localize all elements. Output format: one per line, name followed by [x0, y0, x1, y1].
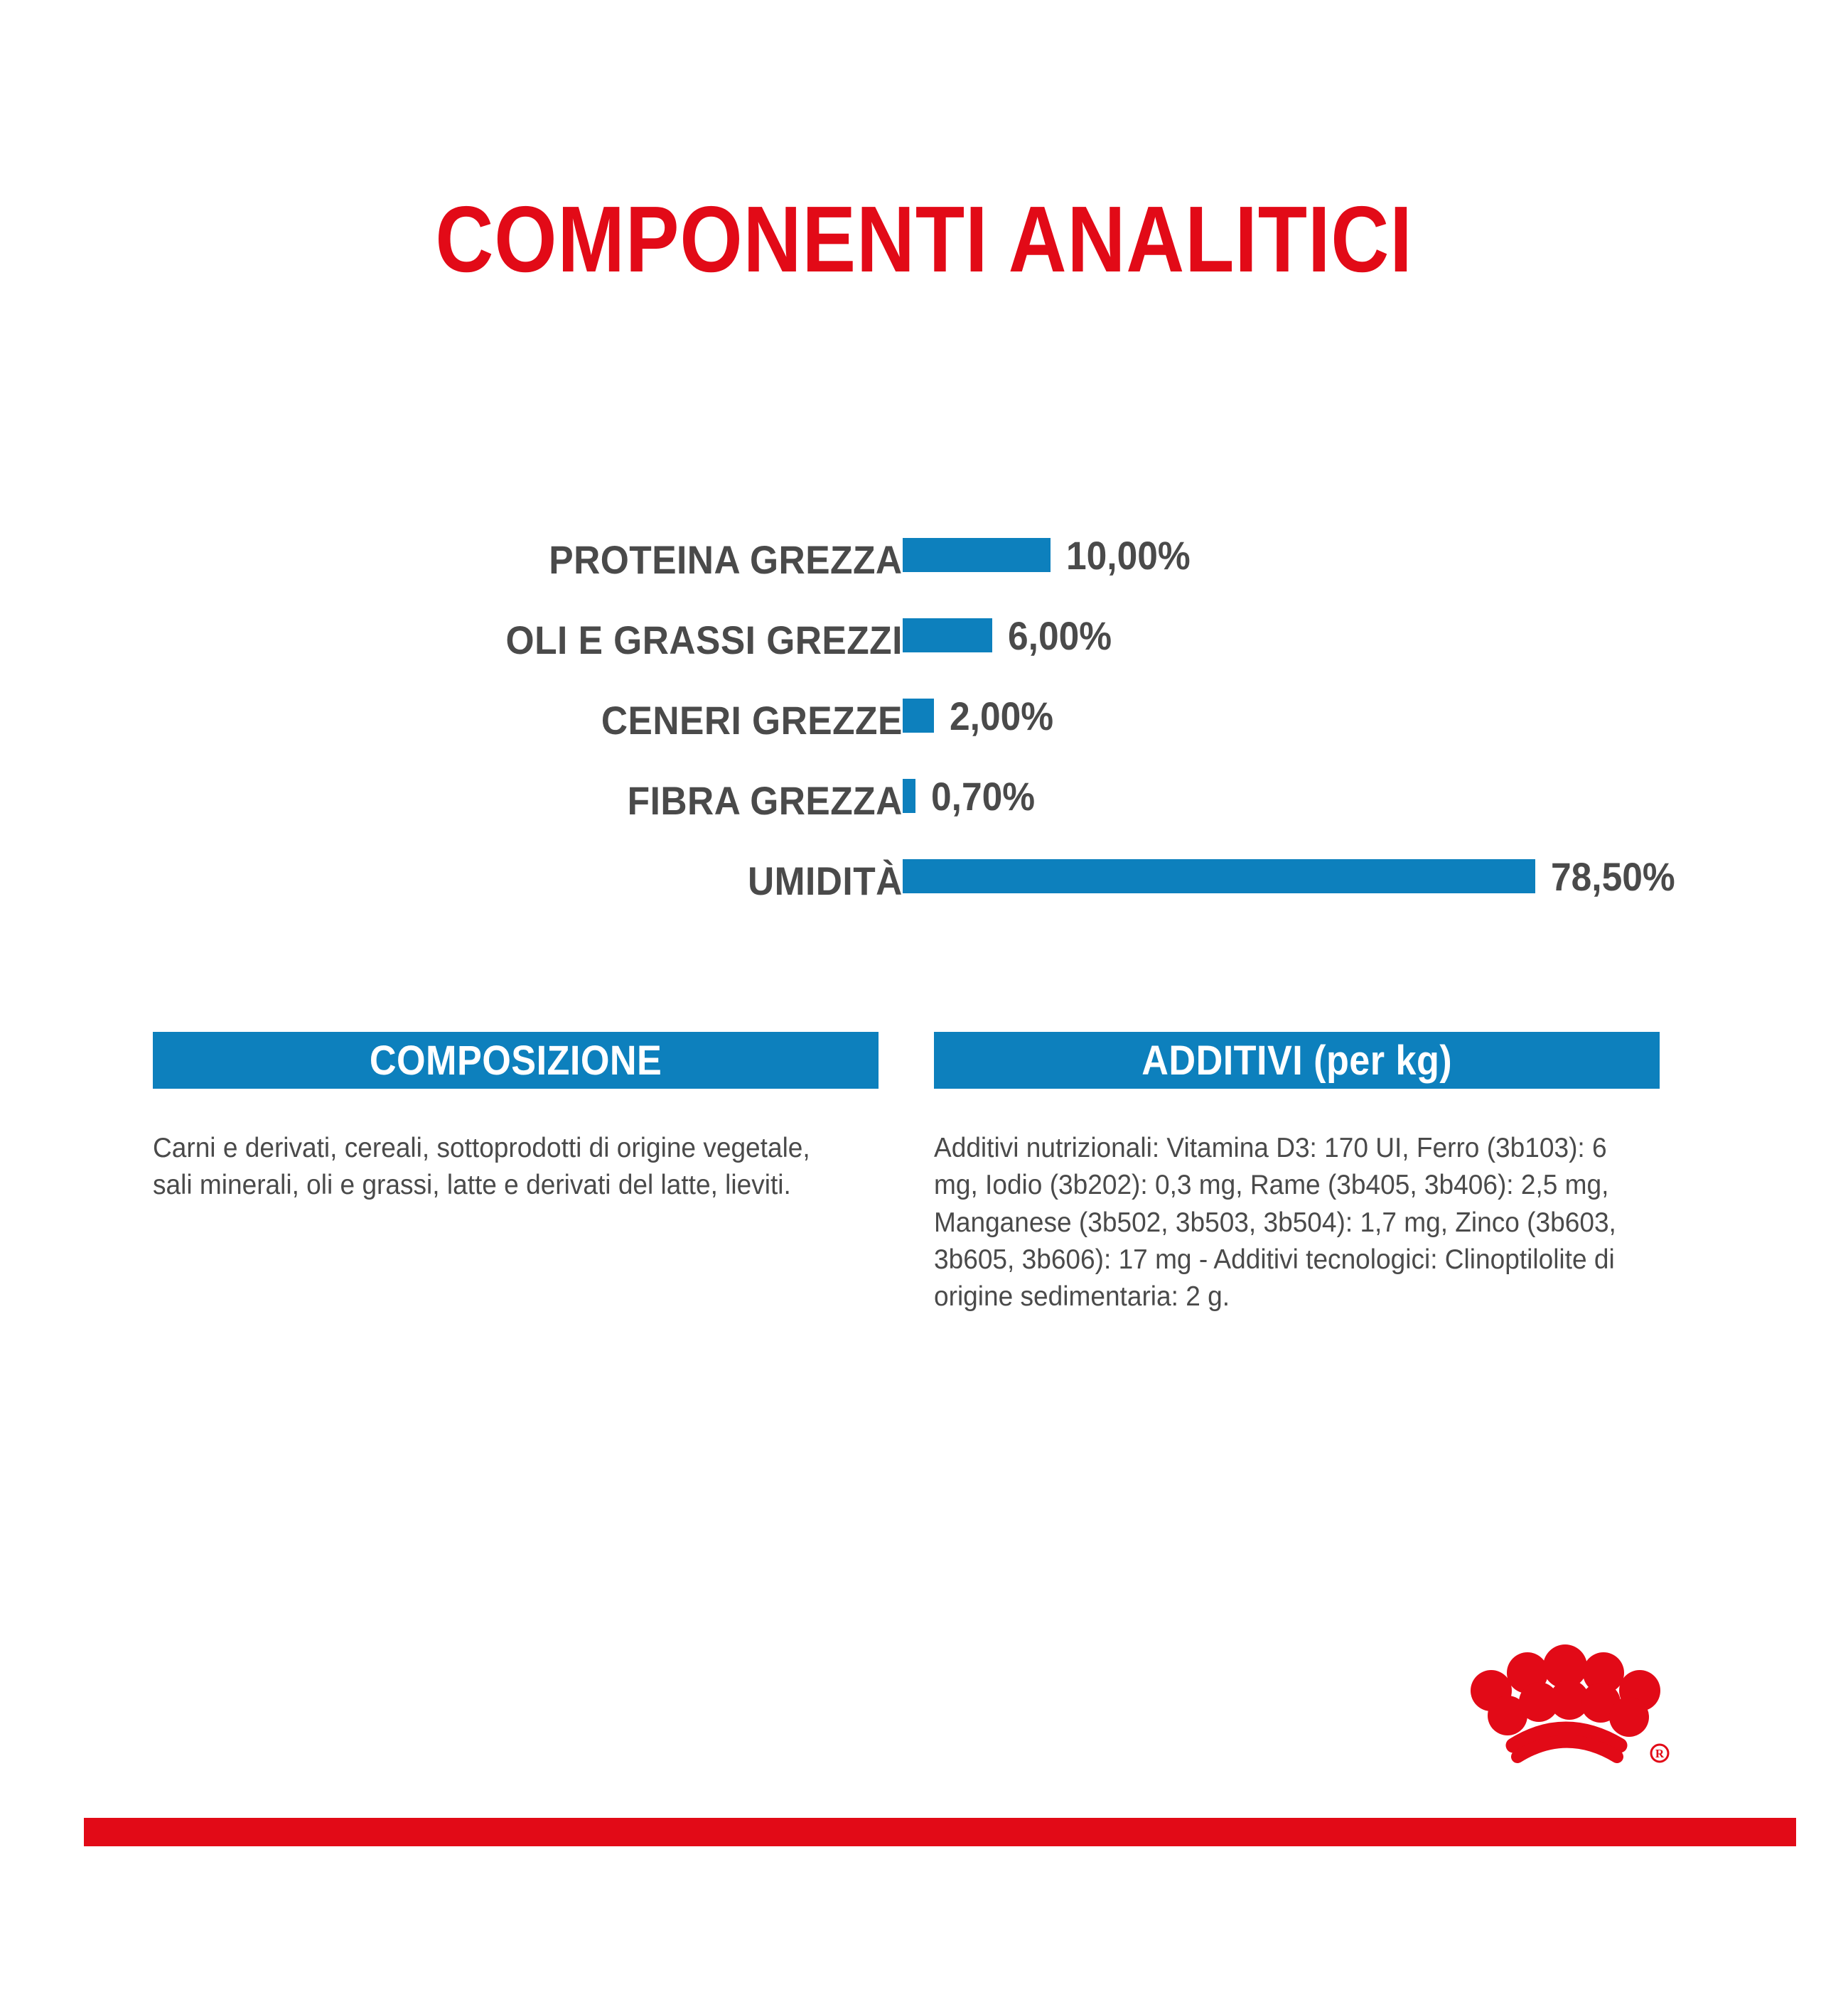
bar-track: 2,00% — [903, 699, 1063, 733]
panel-header-composizione: COMPOSIZIONE — [153, 1032, 879, 1089]
bar-label: CENERI GREZZE — [601, 697, 903, 743]
bar-row-oli-e-grassi-grezzi: OLI E GRASSI GREZZI 6,00% — [0, 603, 1848, 683]
bar-fill — [903, 859, 1535, 893]
crown-dot-lower-5 — [1609, 1697, 1649, 1737]
bar-row-proteina-grezza: PROTEINA GREZZA 10,00% — [0, 522, 1848, 603]
bar-value: 6,00% — [1008, 613, 1112, 659]
svg-text:R: R — [1655, 1747, 1665, 1760]
info-panels: COMPOSIZIONE Carni e derivati, cereali, … — [153, 1032, 1717, 1315]
bar-track: 6,00% — [903, 618, 1121, 652]
bar-track: 78,50% — [903, 859, 1686, 893]
panel-header-label: ADDITIVI (per kg) — [1141, 1037, 1452, 1084]
panel-body-composizione: Carni e derivati, cereali, sottoprodotti… — [153, 1130, 842, 1205]
panel-body-additivi: Additivi nutrizionali: Vitamina D3: 170 … — [934, 1130, 1623, 1315]
bar-fill — [903, 779, 915, 813]
bar-row-umidita: UMIDITÀ 78,50% — [0, 844, 1848, 924]
bar-value: 0,70% — [931, 773, 1035, 819]
bar-fill — [903, 699, 934, 733]
panel-additivi: ADDITIVI (per kg) Additivi nutrizionali:… — [934, 1032, 1660, 1315]
bar-value: 10,00% — [1066, 532, 1191, 578]
registered-trademark-icon: R — [1651, 1745, 1668, 1762]
bar-label: UMIDITÀ — [748, 858, 903, 904]
bar-fill — [903, 618, 992, 652]
royal-canin-crown-logo: R — [1443, 1635, 1685, 1791]
bar-fill — [903, 538, 1051, 572]
nutrition-label-page: COMPONENTI ANALITICI PROTEINA GREZZA 10,… — [0, 0, 1848, 2014]
bar-row-ceneri-grezze: CENERI GREZZE 2,00% — [0, 683, 1848, 763]
bar-track: 10,00% — [903, 538, 1201, 572]
analytical-constituents-chart: PROTEINA GREZZA 10,00% OLI E GRASSI GREZ… — [0, 522, 1848, 924]
bar-value: 2,00% — [950, 693, 1053, 739]
bar-label: FIBRA GREZZA — [628, 777, 903, 824]
panel-composizione: COMPOSIZIONE Carni e derivati, cereali, … — [153, 1032, 879, 1315]
panel-header-additivi: ADDITIVI (per kg) — [934, 1032, 1660, 1089]
page-title: COMPONENTI ANALITICI — [129, 190, 1719, 289]
bar-label: OLI E GRASSI GREZZI — [506, 617, 903, 663]
bar-track: 0,70% — [903, 779, 1044, 813]
footer-red-bar — [84, 1818, 1796, 1846]
crown-arc-lower — [1517, 1742, 1617, 1757]
bar-label: PROTEINA GREZZA — [549, 537, 903, 583]
bar-row-fibra-grezza: FIBRA GREZZA 0,70% — [0, 763, 1848, 844]
panel-header-label: COMPOSIZIONE — [370, 1037, 662, 1084]
bar-value: 78,50% — [1551, 853, 1675, 900]
